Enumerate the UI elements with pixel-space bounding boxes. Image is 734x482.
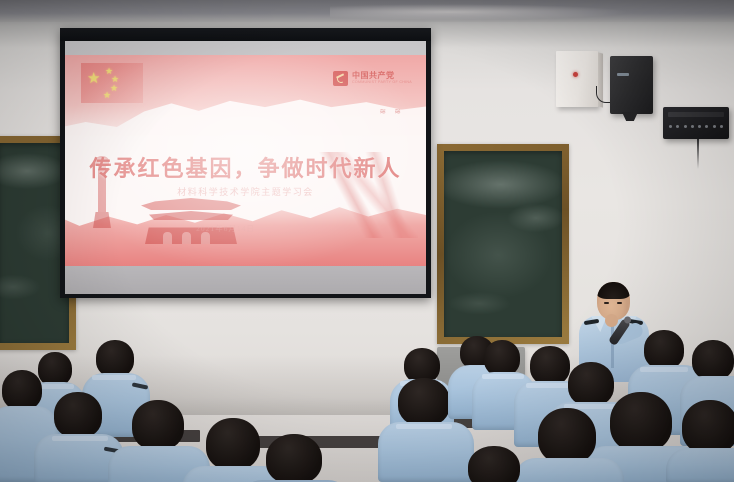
speaker-badge xyxy=(617,73,629,76)
av-control-panel[interactable] xyxy=(663,107,729,139)
slide-date: 2021年6月14日 xyxy=(65,223,426,234)
screen-top-bar xyxy=(60,28,431,41)
chalk-residue xyxy=(0,143,69,343)
power-led-icon xyxy=(573,72,578,77)
classroom-scene: ★ ★ ★ ★ ★ ≋ ≋ xyxy=(0,0,734,482)
wall-speaker-black xyxy=(610,56,653,114)
chinese-flag-icon: ★ ★ ★ ★ ★ xyxy=(81,63,143,103)
panel-wire xyxy=(697,139,699,169)
screen-surface: ★ ★ ★ ★ ★ ≋ ≋ xyxy=(65,41,426,294)
projected-slide: ★ ★ ★ ★ ★ ≋ ≋ xyxy=(65,55,426,268)
blackboard-right xyxy=(437,144,569,344)
slide-title: 传承红色基因，争做时代新人 xyxy=(65,151,426,183)
flag-star: ★ xyxy=(110,84,118,93)
wall-speaker-white xyxy=(556,51,598,107)
cpc-emblem-icon xyxy=(333,71,348,86)
ceiling-light-reflection xyxy=(330,4,630,20)
tiananmen-gate-icon xyxy=(137,198,245,244)
flag-star: ★ xyxy=(103,91,111,100)
slide-subtitle: 材料科学技术学院主题学习会 xyxy=(65,185,426,198)
projection-screen: ★ ★ ★ ★ ★ ≋ ≋ xyxy=(60,28,431,298)
panel-indicator-lights xyxy=(669,124,723,128)
birds-icon: ≋ ≋ xyxy=(379,107,404,116)
chalk-residue xyxy=(444,151,562,337)
screen-blank-area xyxy=(65,266,426,294)
flag-star-large: ★ xyxy=(87,71,100,86)
cpc-logo: 中国共产党 COMMUNIST PARTY OF CHINA xyxy=(333,71,412,86)
cpc-logo-cn: 中国共产党 xyxy=(352,72,412,80)
panel-top-strip xyxy=(668,112,724,117)
cpc-logo-en: COMMUNIST PARTY OF CHINA xyxy=(352,81,412,85)
